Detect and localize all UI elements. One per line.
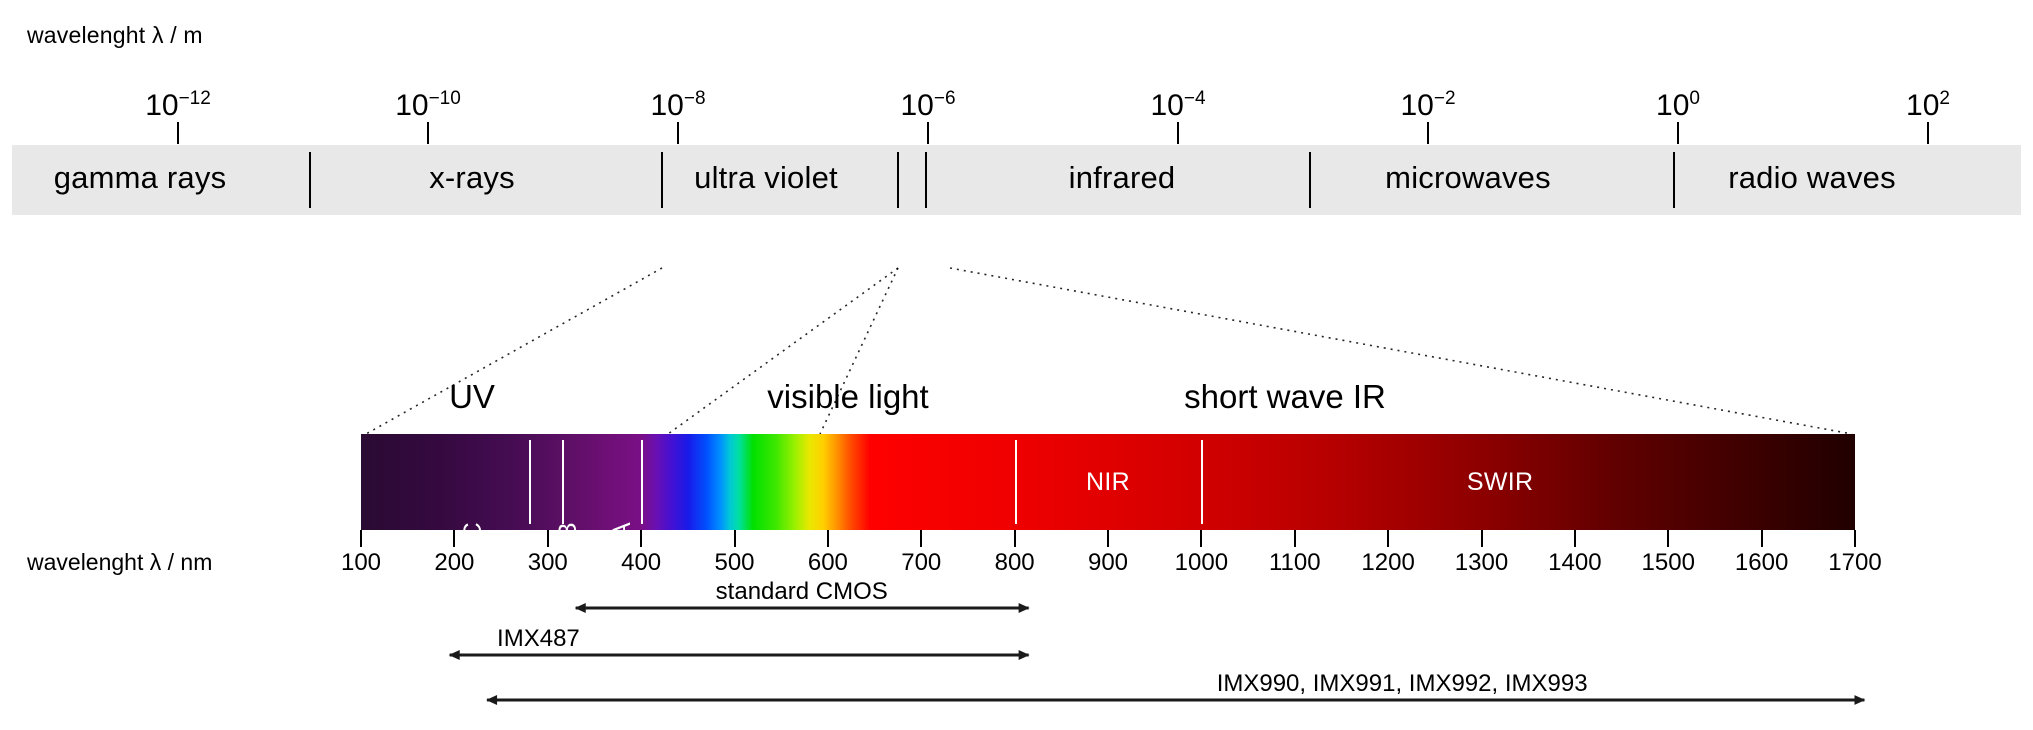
annotation-label: IMX487 <box>497 625 580 653</box>
annotation-label: standard CMOS <box>716 578 888 606</box>
spectrum-figure: wavelenght λ / m 10−1210−1010−810−610−41… <box>0 0 2033 730</box>
annotation-label: IMX990, IMX991, IMX992, IMX993 <box>1217 670 1588 698</box>
annotation-arrow-layer <box>0 0 2033 730</box>
